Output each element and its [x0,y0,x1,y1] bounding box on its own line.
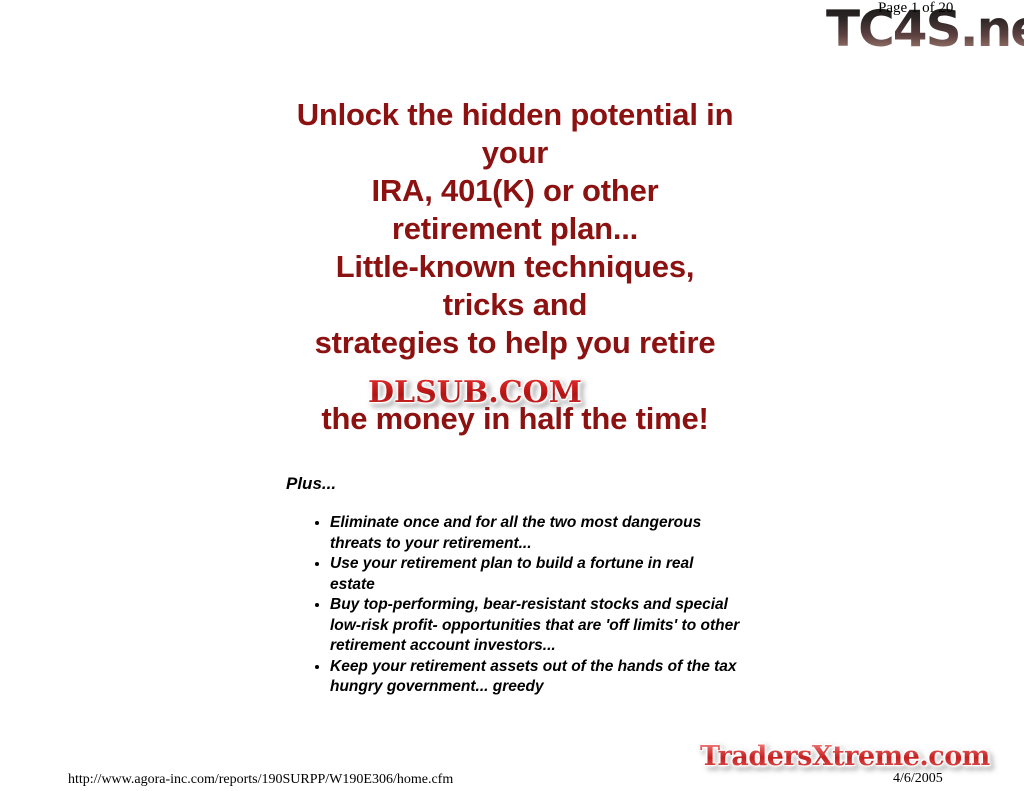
headline-line: IRA, 401(K) or other [232,172,798,210]
headline-line: Little-known techniques, [232,248,798,286]
plus-label: Plus... [286,474,336,494]
source-url-label: http://www.agora-inc.com/reports/190SURP… [68,772,453,788]
list-item: Buy top-performing, bear-resistant stock… [310,595,740,657]
slide-page: Page 1 of 20 TC4S.net Unlock the hidden … [0,0,1024,791]
date-label: 4/6/2005 [893,771,943,787]
headline-line: retirement plan... [232,210,798,248]
list-item: Keep your retirement assets out of the h… [310,657,740,698]
list-item: Eliminate once and for all the two most … [310,513,740,554]
page-number-label: Page 1 of 20 [878,0,953,17]
headline-line: tricks and [232,286,798,324]
tradersxtreme-brand-logo: TradersXtreme.com [700,742,990,772]
headline-line: Unlock the hidden potential in [232,96,798,134]
headline-line: strategies to help you retire [232,324,798,362]
list-item: Use your retirement plan to build a fort… [310,554,740,595]
headline-line: your [232,134,798,172]
benefits-list: Eliminate once and for all the two most … [310,513,740,698]
dlsub-watermark: DLSUB.COM [368,376,582,410]
